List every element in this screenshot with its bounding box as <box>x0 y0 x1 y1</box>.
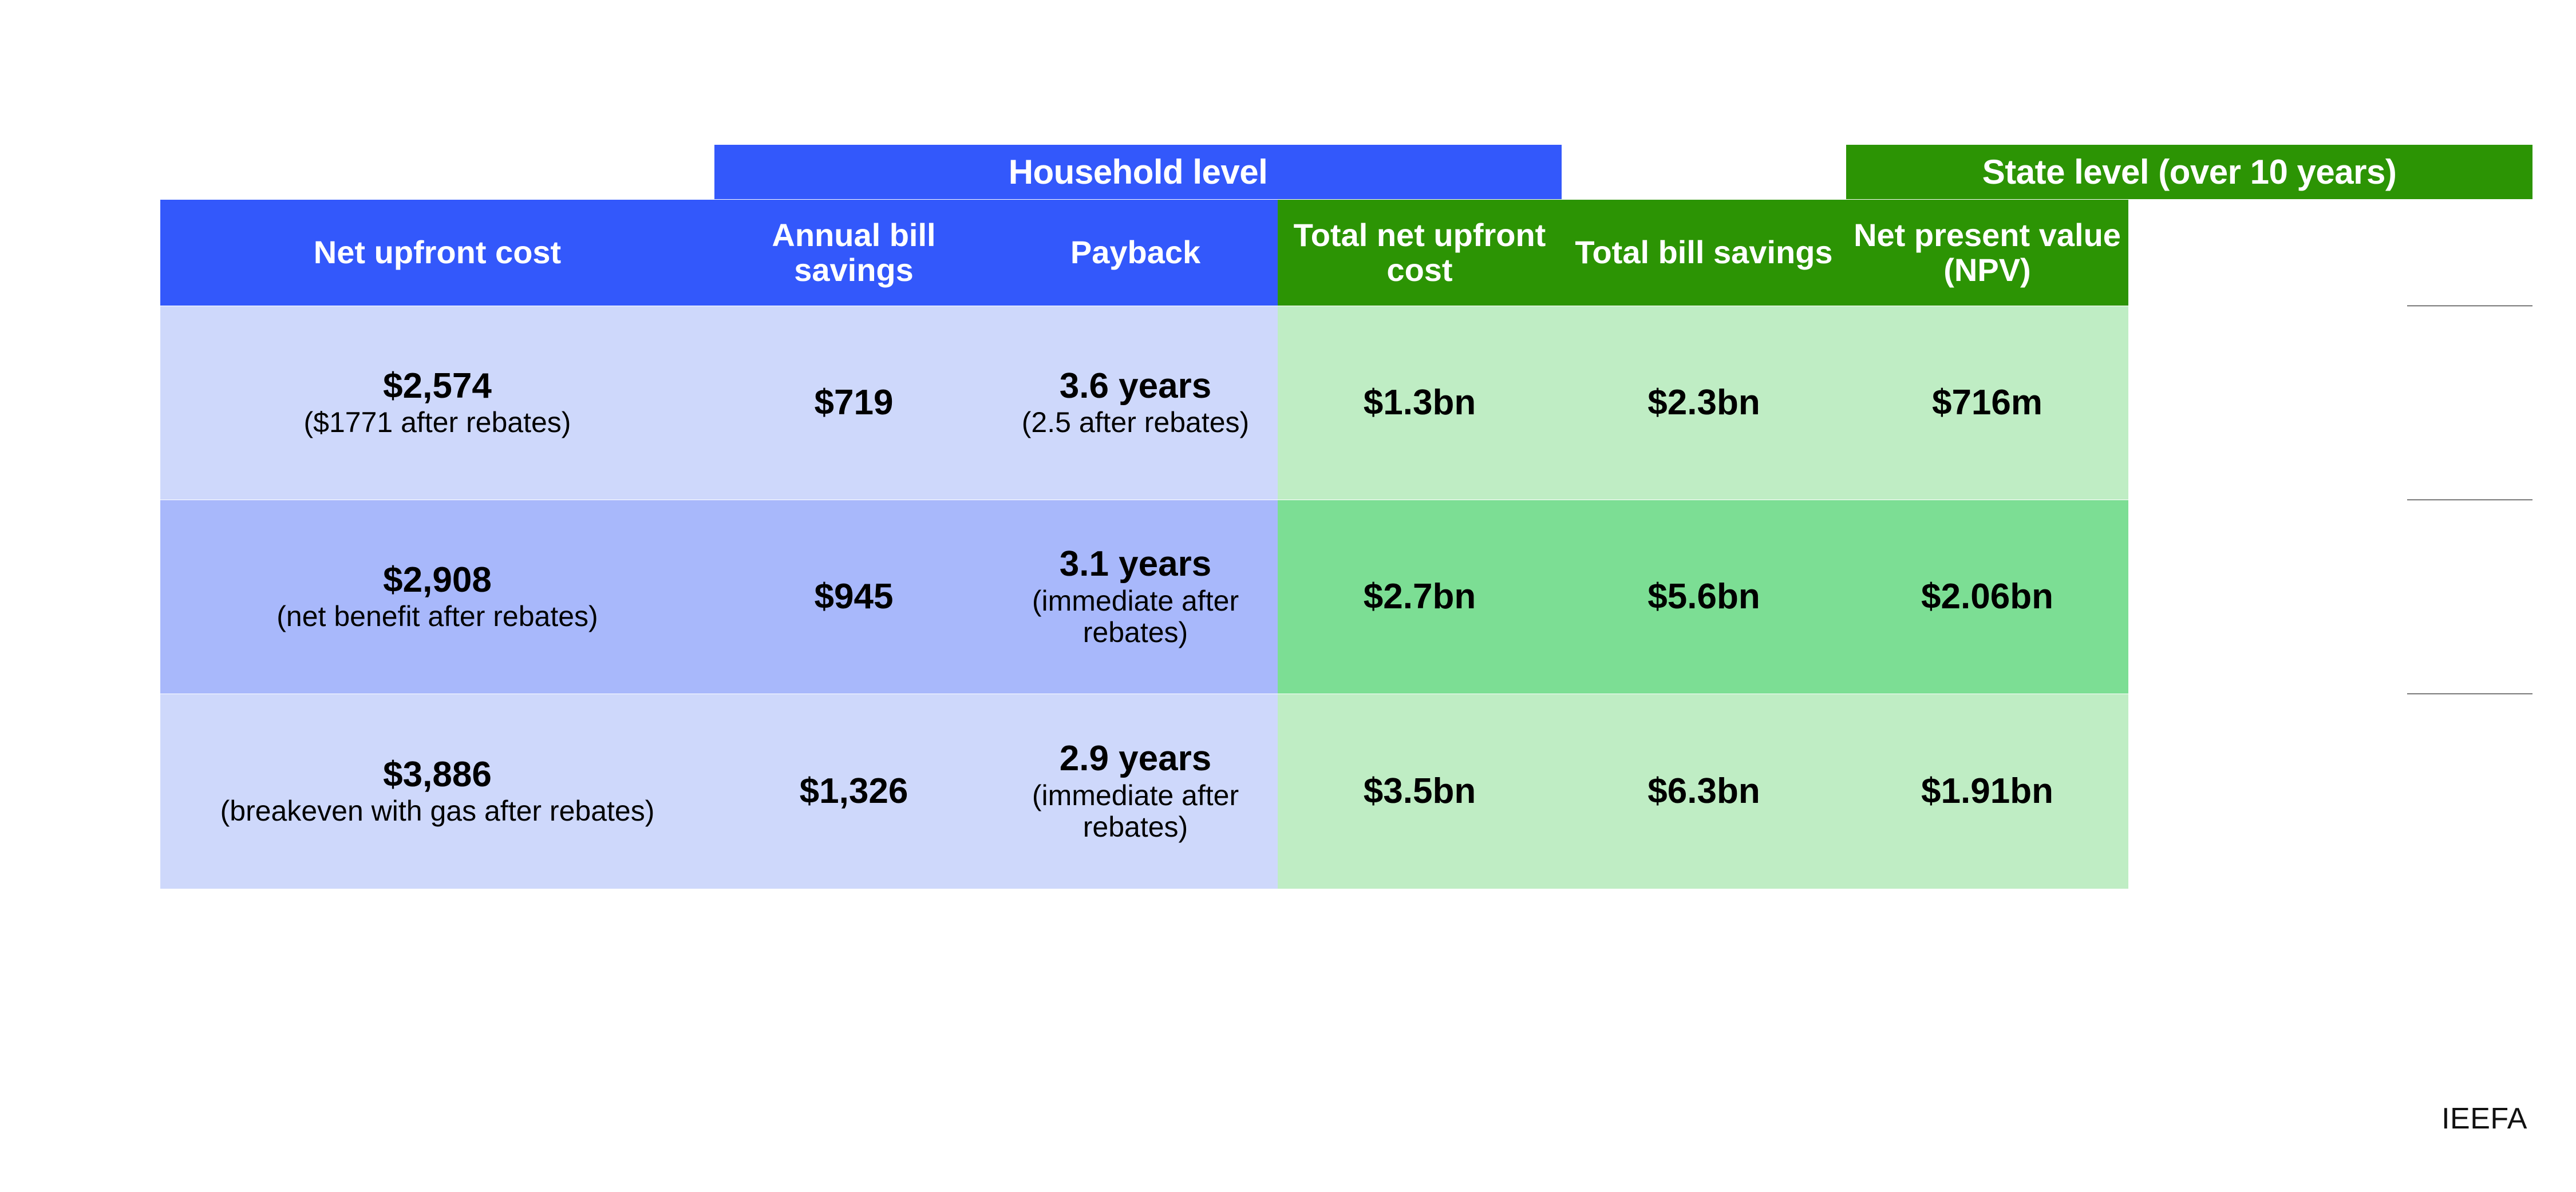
column-header-net-upfront-cost: Net upfront cost <box>160 200 714 306</box>
cell-note: (immediate after rebates) <box>998 780 1273 843</box>
column-header-label: Annual bill savings <box>720 218 987 287</box>
row-label-text: Option 3 <box>2407 464 2532 537</box>
row-label-text: Options 2 & 4 <box>2407 658 2532 731</box>
column-header-label: Total bill savings <box>1575 235 1832 270</box>
table-row: $2,574 ($1771 after rebates) <box>160 306 714 500</box>
group-header-gap <box>1562 145 1846 199</box>
column-header-payback: Payback <box>993 200 1278 306</box>
cell-note: (net benefit after rebates) <box>276 601 598 632</box>
table-row: $719 <box>714 306 993 500</box>
table-corner-cell <box>160 145 714 199</box>
cell-value: $719 <box>815 384 894 421</box>
table-row: $1.3bn <box>1278 306 1562 500</box>
cell-value: $3.5bn <box>1364 773 1476 810</box>
table-row-label-option-3: Option 3 <box>2407 500 2532 500</box>
table-row: 2.9 years (immediate after rebates) <box>993 694 1278 889</box>
cell-value: $3,886 <box>383 756 492 793</box>
cell-note: (immediate after rebates) <box>998 585 1273 648</box>
table-row: $1,326 <box>714 694 993 889</box>
cell-value: $1.91bn <box>1921 773 2053 810</box>
cell-value: $5.6bn <box>1647 578 1760 615</box>
column-header-total-net-upfront-cost: Total net upfront cost <box>1278 200 1562 306</box>
cell-value: $2.3bn <box>1647 384 1760 421</box>
table-row-label-options-2-and-4: Options 2 & 4 <box>2407 694 2532 694</box>
cell-note: (2.5 after rebates) <box>1022 407 1249 438</box>
cell-value: 3.6 years <box>1060 367 1211 405</box>
cell-note: ($1771 after rebates) <box>304 407 571 438</box>
table-row: 3.6 years (2.5 after rebates) <box>993 306 1278 500</box>
table-row: $2.3bn <box>1562 306 1846 500</box>
cell-value: $2.7bn <box>1364 578 1476 615</box>
group-header-state: State level (over 10 years) <box>1846 145 2532 199</box>
table-row: $2.7bn <box>1278 500 1562 694</box>
column-header-label: Payback <box>1070 235 1200 270</box>
column-header-annual-bill-savings: Annual bill savings <box>714 200 993 306</box>
table-corner-cell-2 <box>2407 199 2532 200</box>
table-row-label-option-1: Option 1 <box>2407 306 2532 306</box>
table-row: $945 <box>714 500 993 694</box>
cell-note: (breakeven with gas after rebates) <box>220 795 655 827</box>
table-row: $1.91bn <box>1846 694 2128 889</box>
column-header-label: Net upfront cost <box>314 235 561 270</box>
cell-value: 2.9 years <box>1060 740 1211 777</box>
group-header-state-label: State level (over 10 years) <box>1982 154 2397 190</box>
group-header-household-label: Household level <box>1009 154 1268 190</box>
options-comparison-table: Household level State level (over 10 yea… <box>160 145 2407 1047</box>
cell-value: $1.3bn <box>1364 384 1476 421</box>
source-label: IEEFA <box>2441 1102 2527 1136</box>
table-row: $2.06bn <box>1846 500 2128 694</box>
cell-value: $6.3bn <box>1647 773 1760 810</box>
row-label-text: Option 1 <box>2407 270 2532 343</box>
cell-value: $1,326 <box>800 773 908 810</box>
table-row: $2,908 (net benefit after rebates) <box>160 500 714 694</box>
cell-value: $2,574 <box>383 367 492 405</box>
table-grid: Household level State level (over 10 yea… <box>160 145 2407 1047</box>
column-header-total-bill-savings: Total bill savings <box>1562 200 1846 306</box>
column-header-net-present-value: Net present value (NPV) <box>1846 200 2128 306</box>
column-header-label: Net present value (NPV) <box>1852 218 2123 287</box>
cell-value: $945 <box>815 578 894 615</box>
cell-value: $2.06bn <box>1921 578 2053 615</box>
comparison-table-figure: Household level State level (over 10 yea… <box>0 0 2576 1192</box>
table-row: $3.5bn <box>1278 694 1562 889</box>
table-row: $5.6bn <box>1562 500 1846 694</box>
table-row: $3,886 (breakeven with gas after rebates… <box>160 694 714 889</box>
group-header-household: Household level <box>714 145 1562 199</box>
table-row: $6.3bn <box>1562 694 1846 889</box>
column-header-label: Total net upfront cost <box>1283 218 1556 287</box>
table-row: $716m <box>1846 306 2128 500</box>
cell-value: $2,908 <box>383 561 492 599</box>
table-row: 3.1 years (immediate after rebates) <box>993 500 1278 694</box>
cell-value: $716m <box>1932 384 2042 421</box>
cell-value: 3.1 years <box>1060 545 1211 583</box>
